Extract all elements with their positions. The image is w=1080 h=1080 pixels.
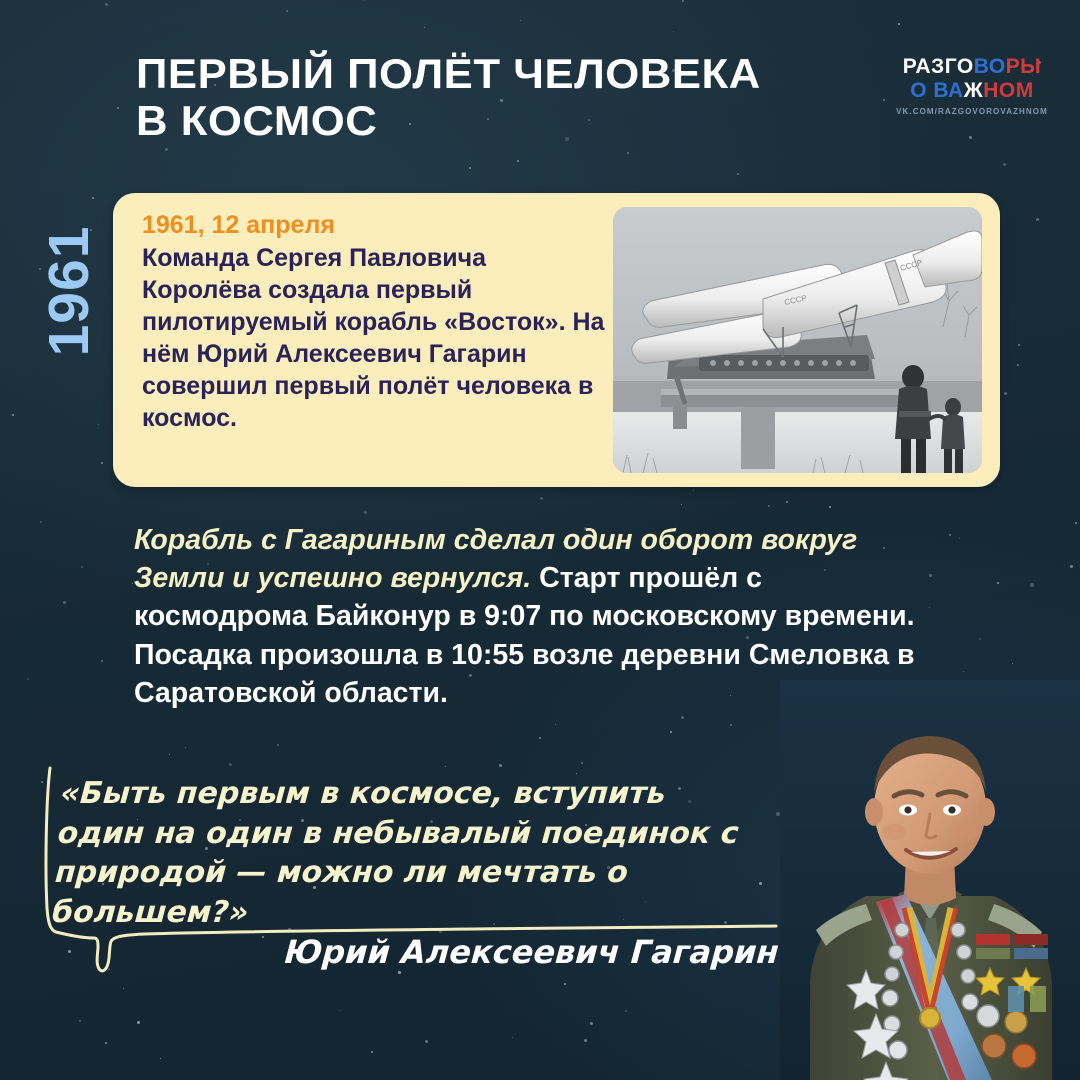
logo-l1-a: РАЗГО (903, 55, 974, 78)
logo-l1-c: РЫ (1006, 55, 1042, 78)
logo-l2-a: О ВА (910, 79, 963, 102)
rocket-photo: СССР СССР (613, 207, 982, 473)
poster-root: ПЕРВЫЙ ПОЛЁТ ЧЕЛОВЕКА В КОСМОС РАЗГОВОРЫ… (0, 0, 1080, 1080)
gagarin-portrait (780, 680, 1080, 1080)
page-title: ПЕРВЫЙ ПОЛЁТ ЧЕЛОВЕКА В КОСМОС (136, 50, 926, 144)
logo-url[interactable]: vk.com/razgovorovazhnom (886, 107, 1058, 116)
fact-card-text: 1961, 12 апреля Команда Сергея Павловича… (142, 211, 608, 434)
title-line-1: ПЕРВЫЙ ПОЛЁТ ЧЕЛОВЕКА (136, 50, 926, 97)
year-rail-label: 1961 (36, 206, 102, 376)
fact-card-date: 1961, 12 апреля (142, 211, 608, 240)
logo-line-2: О ВАЖНОМ (886, 80, 1058, 101)
brand-logo[interactable]: РАЗГОВОРЫ О ВАЖНОМ vk.com/razgovorovazhn… (886, 56, 1058, 116)
fact-card-body: Команда Сергея Павловича Королёва создал… (142, 242, 608, 434)
logo-l2-c: НОМ (983, 79, 1034, 102)
rocket-photo-illustration: СССР СССР (613, 207, 982, 473)
fact-card: 1961, 12 апреля Команда Сергея Павловича… (113, 193, 1000, 487)
logo-l2-b: Ж (964, 79, 983, 102)
logo-line-1: РАЗГОВОРЫ (886, 56, 1058, 77)
quote-author: Юрий Алексеевич Гагарин (248, 935, 780, 970)
logo-l1-b: ВО (974, 55, 1006, 78)
quote-text: «Быть первым в космосе, вступить один на… (51, 774, 762, 932)
gagarin-portrait-illustration (780, 680, 1080, 1080)
title-line-2: В КОСМОС (136, 97, 926, 144)
